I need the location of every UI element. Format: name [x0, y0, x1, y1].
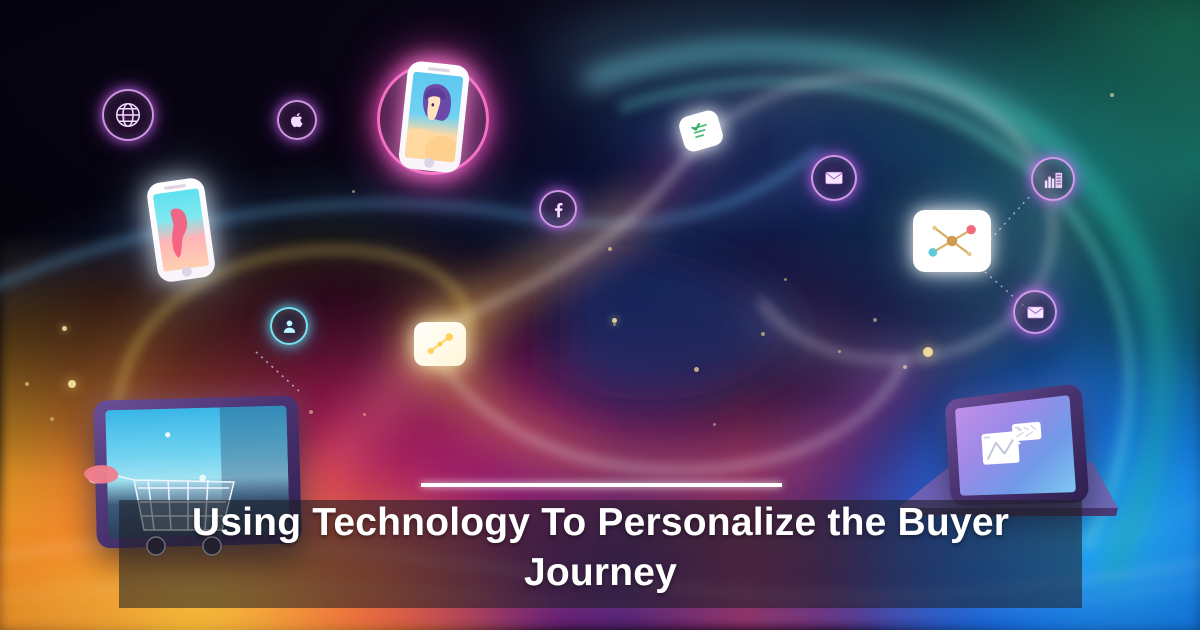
sparkle	[838, 350, 841, 353]
sparkle	[713, 423, 716, 426]
laptop-mail-screen	[955, 395, 1076, 496]
selfie-phone-screen	[405, 72, 464, 163]
sparkle	[1110, 93, 1114, 97]
sparkle	[694, 367, 699, 372]
sparkle	[608, 247, 612, 251]
phone-home-button	[181, 266, 192, 277]
sparkle	[68, 380, 76, 388]
ribbon-navy-blob	[560, 245, 800, 401]
sparkle	[613, 323, 616, 326]
connector-user-to-tablet	[256, 352, 300, 392]
sparkle	[62, 326, 67, 331]
share-node-icon	[414, 322, 466, 366]
sparkle	[25, 382, 29, 386]
sparkle	[923, 347, 933, 357]
cart-handle	[84, 465, 118, 484]
phone-speaker	[164, 184, 186, 190]
facebook-icon	[539, 190, 577, 228]
page-title: Using Technology To Personalize the Buye…	[119, 498, 1082, 598]
title-divider	[421, 483, 782, 487]
bar-chart-icon	[1031, 157, 1075, 201]
apple-icon	[277, 100, 317, 140]
globe-icon	[102, 89, 154, 141]
banner-image: Using Technology To Personalize the Buye…	[0, 0, 1200, 630]
selfie-phone-home-button	[424, 157, 435, 168]
selfie-portrait-art	[405, 72, 464, 163]
envelope-icon-top	[811, 155, 857, 201]
sparkle	[50, 417, 54, 421]
network-graph-art	[917, 214, 987, 268]
phone-screen	[153, 188, 209, 272]
network-card-icon	[913, 210, 991, 272]
selfie-phone-device	[398, 60, 471, 174]
sparkle	[309, 410, 313, 414]
ribbon-ray-lower	[300, 348, 432, 500]
sparkle	[352, 190, 355, 193]
phone-screen-art	[153, 188, 209, 272]
sparkle	[873, 318, 877, 322]
sparkle	[784, 278, 787, 281]
sparkle	[903, 365, 907, 369]
mail-app-art	[972, 411, 1056, 483]
laptop-mail	[945, 383, 1090, 506]
selfie-phone-speaker	[428, 67, 450, 72]
sparkle	[363, 413, 366, 416]
sparkle	[761, 332, 765, 336]
user-profile-icon	[270, 307, 308, 345]
share-node-art	[420, 327, 460, 361]
envelope-icon-bottom	[1013, 290, 1057, 334]
